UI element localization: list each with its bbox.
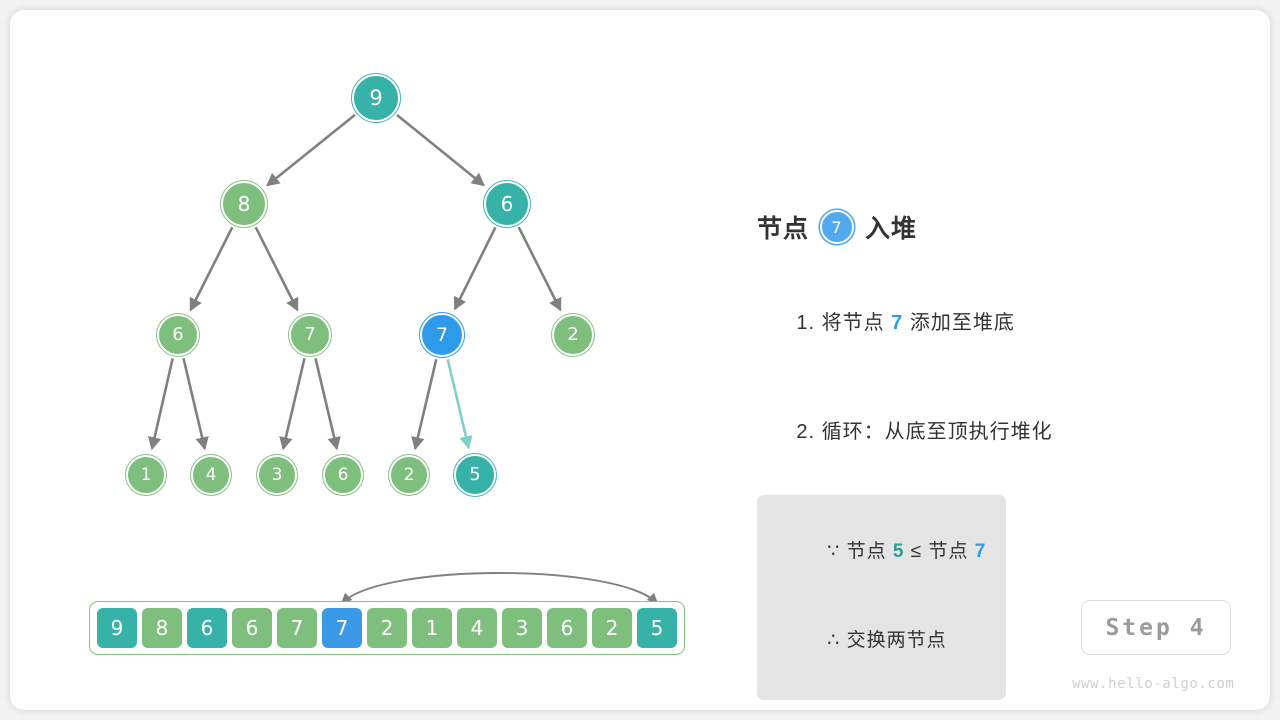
- array-cell-3: 6: [231, 607, 273, 649]
- tree-node-n6: 2: [552, 314, 594, 356]
- array-cell-4: 7: [276, 607, 318, 649]
- tree-node-n3: 6: [157, 314, 199, 356]
- tree-node-value: 6: [172, 326, 183, 344]
- tree-node-n1: 8: [221, 181, 267, 227]
- tree-node-value: 8: [238, 194, 251, 214]
- step-2-number: 2.: [796, 421, 815, 443]
- tree-node-value: 3: [272, 467, 283, 484]
- step-1-number: 1.: [796, 312, 815, 334]
- reason-operator: ≤: [904, 541, 928, 562]
- reason-therefore-symbol: ∴: [827, 630, 840, 651]
- array-cell-1: 8: [141, 607, 183, 649]
- panel-title-prefix: 节点: [757, 209, 809, 245]
- reason-node-a-value: 5: [893, 541, 905, 562]
- reason-node-a-label: 节点: [840, 541, 893, 562]
- reason-node-b-label: 节点: [928, 541, 974, 562]
- tree-node-n12: 5: [454, 454, 496, 496]
- heap-array: 9866772143625: [89, 601, 685, 655]
- reason-line-2: ∴ 交换两节点: [777, 596, 986, 684]
- reason-node-b-value: 7: [975, 541, 987, 562]
- array-cell-11: 2: [591, 607, 633, 649]
- tree-node-value: 6: [338, 467, 349, 484]
- array-cell-10: 6: [546, 607, 588, 649]
- step-line-2: 2. 循环：从底至顶执行堆化: [757, 392, 1227, 467]
- tree-node-value: 1: [141, 467, 152, 484]
- panel-title: 节点 7 入堆: [757, 205, 1227, 249]
- site-url: www.hello-algo.com: [1072, 676, 1235, 692]
- tree-node-value: 4: [206, 467, 217, 484]
- tree-node-value: 5: [469, 466, 480, 484]
- step-2-before: 循环：从底至顶执行堆化: [815, 421, 1053, 443]
- reason-conclusion-text: 交换两节点: [840, 630, 946, 651]
- tree-node-n11: 2: [389, 455, 429, 495]
- tree-node-n0: 9: [352, 74, 400, 122]
- reason-because-symbol: ∵: [827, 541, 840, 562]
- panel-title-suffix: 入堆: [865, 209, 917, 245]
- tree-node-value: 2: [567, 326, 578, 344]
- tree-node-n9: 3: [257, 455, 297, 495]
- array-cell-6: 2: [366, 607, 408, 649]
- tree-node-value: 9: [369, 88, 382, 109]
- array-cell-12: 5: [636, 607, 678, 649]
- array-cell-5: 7: [321, 607, 363, 649]
- tree-node-n10: 6: [323, 455, 363, 495]
- tree-node-value: 7: [304, 326, 315, 344]
- array-cell-9: 3: [501, 607, 543, 649]
- tree-node-value: 2: [404, 467, 415, 484]
- reason-box: ∵ 节点 5 ≤ 节点 7 ∴ 交换两节点: [757, 495, 1006, 700]
- step-1-highlight: 7: [891, 312, 903, 334]
- screenshot-canvas: 9866772143625 节点 7 入堆 1. 将节点 7 添加至堆底 2. …: [0, 0, 1280, 720]
- tree-node-n7: 1: [126, 455, 166, 495]
- array-cell-0: 9: [96, 607, 138, 649]
- tree-node-n8: 4: [191, 455, 231, 495]
- tree-node-n2: 6: [484, 181, 530, 227]
- array-cell-8: 4: [456, 607, 498, 649]
- panel-title-node-badge: 7: [820, 210, 854, 244]
- tree-node-n4: 7: [289, 314, 331, 356]
- tree-node-n5: 7: [420, 313, 464, 357]
- array-cell-7: 1: [411, 607, 453, 649]
- tree-node-value: 7: [436, 326, 448, 345]
- step-badge: Step 4: [1081, 600, 1231, 655]
- step-1-after: 添加至堆底: [903, 312, 1015, 334]
- tree-node-value: 6: [501, 194, 514, 214]
- array-cell-2: 6: [186, 607, 228, 649]
- step-1-before: 将节点: [815, 312, 891, 334]
- step-line-1: 1. 将节点 7 添加至堆底: [757, 283, 1227, 358]
- reason-line-1: ∵ 节点 5 ≤ 节点 7: [777, 508, 986, 596]
